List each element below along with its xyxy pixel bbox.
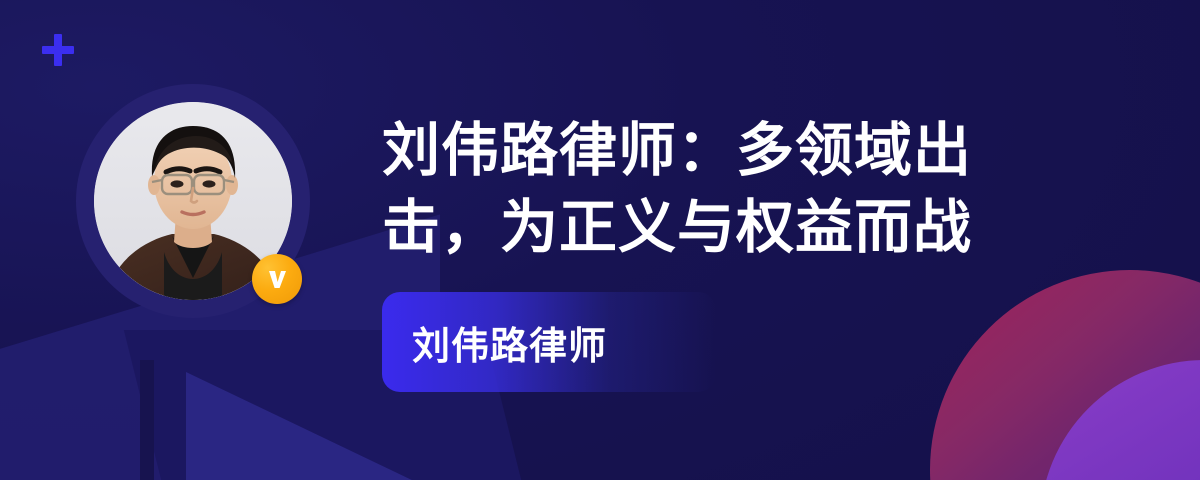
background-triangle xyxy=(186,372,416,480)
avatar xyxy=(76,84,310,318)
plus-icon xyxy=(42,34,74,66)
background-vertical-bar xyxy=(140,360,154,480)
headline-block: 刘伟路律师：多领域出击，为正义与权益而战 xyxy=(382,112,1042,266)
background-gradient-circle-outer xyxy=(930,270,1200,480)
name-pill-label: 刘伟路律师 xyxy=(382,315,607,370)
background-gradient-circle-inner xyxy=(1040,360,1200,480)
page-title: 刘伟路律师：多领域出击，为正义与权益而战 xyxy=(382,112,1012,266)
name-pill[interactable]: 刘伟路律师 xyxy=(382,292,716,392)
verified-v-badge-icon xyxy=(252,254,302,304)
promo-banner: 刘伟路律师：多领域出击，为正义与权益而战 刘伟路律师 xyxy=(0,0,1200,480)
